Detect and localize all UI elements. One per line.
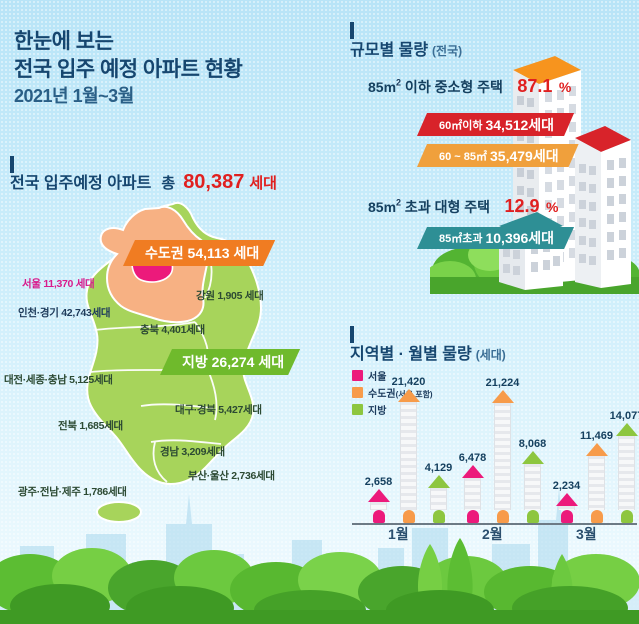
- bar-value-local-mar: 14,077: [610, 410, 639, 422]
- bar-base-capital-feb: [497, 510, 509, 523]
- bar-arrow-seoul-mar: [556, 493, 578, 506]
- map-label-seoul: 서울 11,370 세대: [22, 276, 94, 291]
- bar-base-local-jan: [433, 510, 445, 523]
- bar-local-mar: 14,077: [618, 423, 635, 523]
- scale-small-percent-symbol: %: [559, 79, 571, 95]
- bar-local-feb: 8,068: [524, 451, 541, 523]
- map-label-busan: 부산·울산 2,736세대: [188, 468, 275, 483]
- title-line-2: 전국 입주 예정 아파트 현황: [14, 56, 242, 84]
- month-label-feb: 2월: [482, 524, 503, 544]
- bar-tower-seoul-jan: [370, 502, 387, 510]
- region-month-bar-chart: 서울 수도권(서울 포함) 지방 2,658 21,420 4,129: [352, 368, 637, 568]
- bar-base-seoul-mar: [561, 510, 573, 523]
- bar-arrow-capital-feb: [492, 390, 514, 403]
- bar-value-seoul-feb: 6,478: [459, 452, 487, 464]
- scale-large-label-post: 초과 대형 주택: [401, 199, 490, 215]
- ribbon-over-85-label: 85㎡초과: [439, 230, 482, 246]
- bar-value-capital-jan: 21,420: [392, 376, 426, 388]
- scale-small-percent: 87.1: [517, 76, 552, 96]
- title-line-1: 한눈에 보는: [14, 28, 242, 56]
- left-section-title: 전국 입주예정 아파트: [10, 169, 151, 193]
- map-ribbon-capital: 수도권 54,113 세대: [123, 240, 275, 266]
- bar-local-jan: 4,129: [430, 475, 447, 523]
- scale-large-label-pre: 85m: [368, 199, 396, 215]
- bar-seoul-mar: 2,234: [558, 493, 575, 523]
- bar-capital-mar: 11,469: [588, 443, 605, 523]
- ribbon-60-to-85-value: 35,479세대: [490, 146, 559, 166]
- section-bar-marker: [10, 156, 14, 173]
- bar-seoul-feb: 6,478: [464, 465, 481, 523]
- bar-arrow-capital-mar: [586, 443, 608, 456]
- scale-small-label-post: 이하 중소형 주택: [401, 79, 503, 95]
- scale-row-small: 85m2 이하 중소형 주택 87.1 %: [368, 76, 571, 97]
- map-ribbon-local: 지방 26,274 세대: [160, 349, 300, 375]
- bar-tower-local-mar: [618, 436, 635, 510]
- title-line-3: 2021년 1월~3월: [14, 83, 242, 110]
- bar-base-capital-jan: [403, 510, 415, 523]
- map-region-jeju: [97, 502, 141, 522]
- ribbon-under-60-label: 60㎡이하: [439, 117, 482, 133]
- map-label-gwangju: 광주·전남·제주 1,786세대: [18, 484, 127, 499]
- left-section-header: 전국 입주예정 아파트 총 80,387 세대: [10, 169, 277, 194]
- bar-arrow-capital-jan: [398, 389, 420, 402]
- ribbon-60-to-85: 60 ~ 85㎡ 35,479세대: [417, 144, 579, 167]
- bar-value-local-jan: 4,129: [425, 462, 453, 474]
- section-bar-marker: [350, 326, 354, 343]
- ribbon-under-60-value: 34,512세대: [485, 115, 554, 135]
- bar-value-capital-feb: 21,224: [486, 377, 520, 389]
- scale-large-percent: 12.9: [504, 196, 539, 216]
- bar-tower-local-jan: [430, 488, 447, 510]
- page-title: 한눈에 보는 전국 입주 예정 아파트 현황 2021년 1월~3월: [14, 28, 242, 110]
- scale-large-percent-symbol: %: [546, 199, 558, 215]
- bar-value-seoul-jan: 2,658: [365, 476, 393, 488]
- bar-value-local-feb: 8,068: [519, 438, 547, 450]
- bar-base-seoul-feb: [467, 510, 479, 523]
- scale-section-title: 규모별 물량: [350, 36, 428, 60]
- map-label-daegu: 대구·경북 5,427세대: [175, 402, 262, 417]
- map-label-chungbuk: 충북 4,401세대: [140, 322, 205, 337]
- region-section-title: 지역별 · 월별 물량: [350, 340, 472, 364]
- map-label-daejeon: 대전·세종·충남 5,125세대: [4, 372, 113, 387]
- bar-tower-local-feb: [524, 464, 541, 510]
- total-label: 총: [161, 172, 175, 193]
- region-section-header: 지역별 · 월별 물량 (세대): [350, 340, 506, 364]
- building-red: [575, 126, 631, 288]
- bar-value-seoul-mar: 2,234: [553, 480, 581, 492]
- bar-tower-capital-feb: [494, 403, 511, 510]
- bar-tower-capital-jan: [400, 402, 417, 510]
- chart-baseline: [352, 523, 637, 525]
- bar-seoul-jan: 2,658: [370, 489, 387, 523]
- bar-value-capital-mar: 11,469: [580, 430, 613, 442]
- bar-base-local-mar: [621, 510, 633, 523]
- bar-base-local-feb: [527, 510, 539, 523]
- bar-arrow-local-mar: [616, 423, 638, 436]
- bar-tower-seoul-feb: [464, 478, 481, 510]
- map-label-gyeongnam: 경남 3,209세대: [160, 444, 225, 459]
- map-label-gangwon: 강원 1,905 세대: [196, 288, 263, 303]
- bar-capital-feb: 21,224: [494, 390, 511, 523]
- chart-plot-area: 2,658 21,420 4,129 1월 6,478 21,224: [352, 371, 637, 546]
- ribbon-over-85-value: 10,396세대: [485, 228, 554, 248]
- ribbon-over-85: 85㎡초과 10,396세대: [417, 227, 574, 249]
- ribbon-60-to-85-label: 60 ~ 85㎡: [439, 148, 487, 164]
- scale-section-header: 규모별 물량 (전국): [350, 36, 462, 60]
- bar-base-seoul-jan: [373, 510, 385, 523]
- month-label-mar: 3월: [576, 524, 597, 544]
- bar-base-capital-mar: [591, 510, 603, 523]
- bar-capital-jan: 21,420: [400, 389, 417, 523]
- region-section-subtitle: (세대): [476, 346, 506, 363]
- map-label-incheon-gyeonggi: 인천·경기 42,743세대: [18, 305, 110, 320]
- building-teal: [499, 212, 563, 290]
- total-unit: 세대: [249, 172, 277, 193]
- bar-arrow-local-jan: [428, 475, 450, 488]
- scale-row-large: 85m2 초과 대형 주택 12.9 %: [368, 196, 558, 217]
- bar-tower-capital-mar: [588, 456, 605, 510]
- month-label-jan: 1월: [388, 524, 409, 544]
- bar-arrow-seoul-jan: [368, 489, 390, 502]
- map-label-jeonbuk: 전북 1,685세대: [58, 418, 123, 433]
- scale-small-label-pre: 85m: [368, 79, 396, 95]
- bar-arrow-seoul-feb: [462, 465, 484, 478]
- section-bar-marker: [350, 22, 354, 39]
- bar-arrow-local-feb: [522, 451, 544, 464]
- ribbon-under-60: 60㎡이하 34,512세대: [417, 113, 574, 136]
- total-value: 80,387: [183, 171, 244, 194]
- scale-section-subtitle: (전국): [432, 42, 462, 59]
